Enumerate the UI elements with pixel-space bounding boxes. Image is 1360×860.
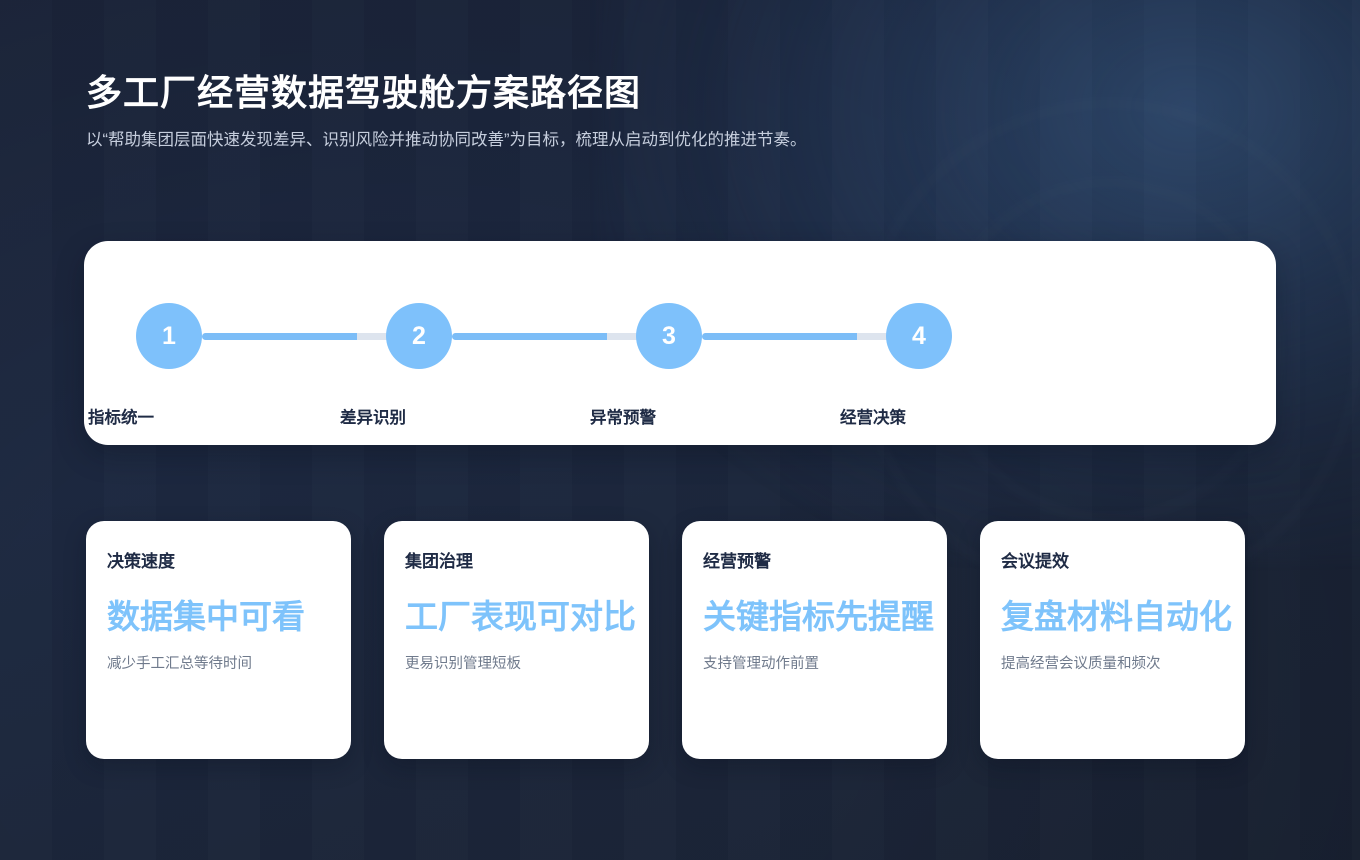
benefit-card-3-content: 经营预警 关键指标先提醒 支持管理动作前置 [703,552,947,676]
page-title: 多工厂经营数据驾驶舱方案路径图 [86,72,886,114]
timeline-step-3-number: 3 [636,303,702,369]
timeline-step-1[interactable]: 1 [136,303,202,369]
benefit-card-1-description: 减少手工汇总等待时间 [107,654,351,676]
timeline-step-2-label: 差异识别 [340,404,406,428]
timeline: 1 2 3 4 指标统一 差异识别 异常预警 经营决策 [84,241,1276,445]
timeline-step-2-number: 2 [386,303,452,369]
timeline-step-1-label: 指标统一 [88,404,154,428]
slide-canvas: 多工厂经营数据驾驶舱方案路径图 以“帮助集团层面快速发现差异、识别风险并推动协同… [0,0,1360,860]
benefit-card-1[interactable]: 决策速度 数据集中可看 减少手工汇总等待时间 [86,521,351,759]
benefit-card-1-kicker: 决策速度 [107,552,351,572]
benefit-card-1-content: 决策速度 数据集中可看 减少手工汇总等待时间 [107,552,351,676]
timeline-panel: 1 2 3 4 指标统一 差异识别 异常预警 经营决策 [84,241,1276,445]
timeline-step-4-label: 经营决策 [840,404,906,428]
benefit-card-2[interactable]: 集团治理 工厂表现可对比 更易识别管理短板 [384,521,649,759]
benefit-card-3-description: 支持管理动作前置 [703,654,947,676]
timeline-step-3[interactable]: 3 [636,303,702,369]
connector-filled-segment [702,333,857,340]
benefit-card-4-description: 提高经营会议质量和频次 [1001,654,1245,676]
benefit-card-2-content: 集团治理 工厂表现可对比 更易识别管理短板 [405,552,649,676]
benefit-card-3-headline: 关键指标先提醒 [703,598,947,636]
connector-filled-segment [452,333,607,340]
benefit-card-3-kicker: 经营预警 [703,552,947,572]
connector-filled-segment [202,333,357,340]
timeline-step-1-number: 1 [136,303,202,369]
timeline-step-4-number: 4 [886,303,952,369]
page-subtitle: 以“帮助集团层面快速发现差异、识别风险并推动协同改善”为目标，梳理从启动到优化的… [86,127,861,155]
timeline-step-2[interactable]: 2 [386,303,452,369]
timeline-step-3-label: 异常预警 [590,404,656,428]
benefit-card-2-headline: 工厂表现可对比 [405,598,649,636]
benefit-card-4-content: 会议提效 复盘材料自动化 提高经营会议质量和频次 [1001,552,1245,676]
benefit-card-2-kicker: 集团治理 [405,552,649,572]
benefit-card-1-headline: 数据集中可看 [107,598,351,636]
benefit-card-3[interactable]: 经营预警 关键指标先提醒 支持管理动作前置 [682,521,947,759]
timeline-step-4[interactable]: 4 [886,303,952,369]
benefit-card-4[interactable]: 会议提效 复盘材料自动化 提高经营会议质量和频次 [980,521,1245,759]
benefit-cards: 决策速度 数据集中可看 减少手工汇总等待时间 集团治理 工厂表现可对比 更易识别… [86,521,1244,761]
benefit-card-4-kicker: 会议提效 [1001,552,1245,572]
benefit-card-2-description: 更易识别管理短板 [405,654,649,676]
benefit-card-4-headline: 复盘材料自动化 [1001,598,1245,636]
header: 多工厂经营数据驾驶舱方案路径图 以“帮助集团层面快速发现差异、识别风险并推动协同… [86,72,886,155]
